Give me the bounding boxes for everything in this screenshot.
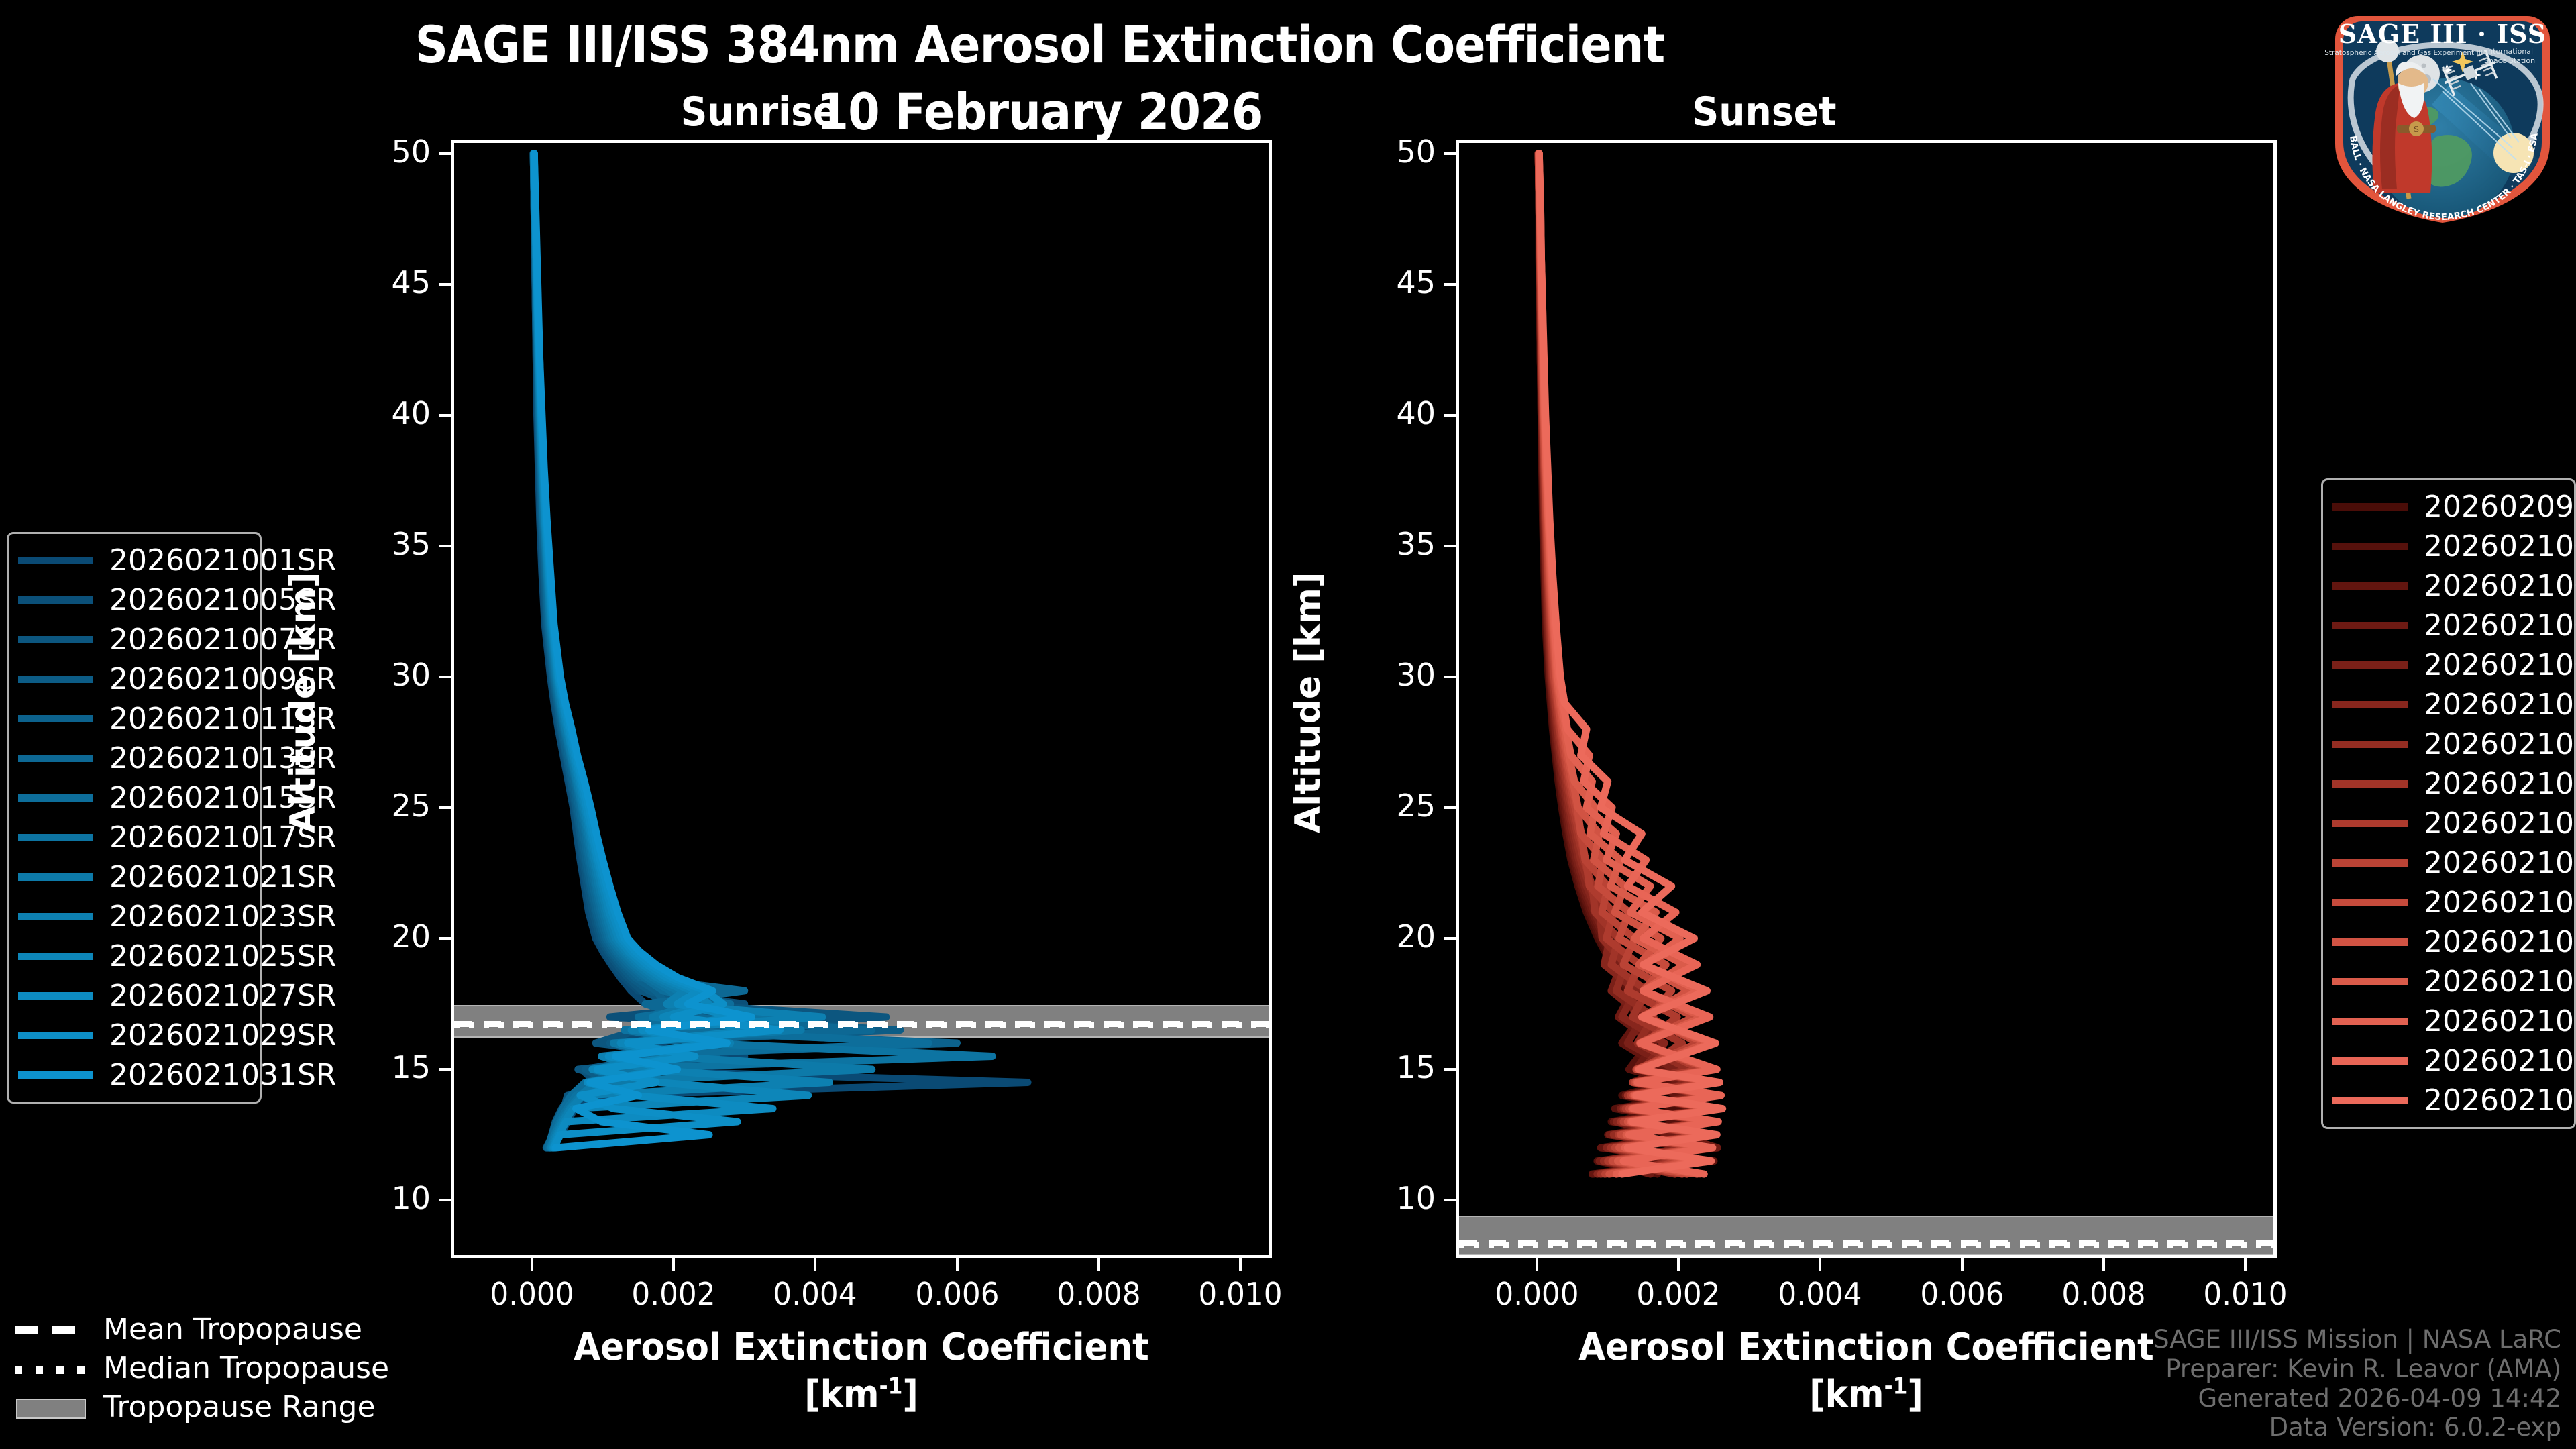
x-axis-tick-label: 0.010 xyxy=(1170,1276,1310,1312)
x-axis-tick xyxy=(2244,1258,2247,1271)
legend-event-label: 2026021001SR xyxy=(109,543,336,578)
legend-sunrise-item[interactable]: 2026021001SR xyxy=(18,541,250,580)
x-axis-tick xyxy=(672,1258,675,1271)
x-axis-tick-label: 0.008 xyxy=(1028,1276,1169,1312)
profile-line xyxy=(533,154,992,1148)
legend-event-label: 2026021013SR xyxy=(109,741,336,775)
legend-event-label: 2026021011SR xyxy=(109,702,336,736)
y-axis-tick xyxy=(439,545,451,547)
plot-area-sunset xyxy=(1459,143,2273,1255)
x-axis-tick xyxy=(1819,1258,1821,1271)
legend-event-label: 2026021029SR xyxy=(109,1018,336,1053)
y-axis-tick-label: 35 xyxy=(343,526,431,562)
x-axis-tick xyxy=(1239,1258,1242,1271)
legend-color-swatch xyxy=(2332,1057,2408,1065)
legend-sunset-item[interactable]: 2026021012SS xyxy=(2332,724,2565,764)
y-axis-tick-label: 20 xyxy=(1348,918,1436,955)
profile-line xyxy=(533,154,957,1148)
x-axis-tick-label: 0.006 xyxy=(887,1276,1027,1312)
legend-label-median: Median Tropopause xyxy=(103,1351,389,1385)
y-axis-tick-label: 20 xyxy=(343,918,431,955)
legend-sunset-item[interactable]: 2026021004SS xyxy=(2332,566,2565,606)
legend-color-swatch xyxy=(2332,543,2408,550)
legend-event-label: 2026021030SS xyxy=(2424,1083,2576,1118)
legend-sunrise-item[interactable]: 2026021017SR xyxy=(18,818,250,857)
legend-event-label: 2026021012SS xyxy=(2424,727,2576,761)
x-axis-tick xyxy=(814,1258,816,1271)
y-axis-tick-label: 45 xyxy=(343,264,431,301)
x-axis-tick xyxy=(2102,1258,2105,1271)
y-axis-tick xyxy=(439,937,451,940)
legend-sunset-item[interactable]: 2026021020SS xyxy=(2332,883,2565,922)
legend-event-label: 2026021007SR xyxy=(109,623,336,657)
legend-event-label: 2026021010SS xyxy=(2424,688,2576,722)
y-axis-tick xyxy=(439,283,451,286)
legend-event-label: 2026021016SS xyxy=(2424,806,2576,841)
legend-color-swatch xyxy=(2332,582,2408,590)
legend-label-mean: Mean Tropopause xyxy=(103,1312,362,1346)
y-axis-tick-label: 15 xyxy=(343,1049,431,1085)
credits-block: SAGE III/ISS Mission | NASA LaRC Prepare… xyxy=(2153,1325,2561,1442)
y-axis-tick xyxy=(1444,806,1456,809)
x-axis-label: Aerosol Extinction Coefficient xyxy=(372,1326,1350,1369)
median-tropopause-line xyxy=(454,1022,1269,1028)
legend-color-swatch xyxy=(18,755,93,762)
legend-color-swatch xyxy=(18,953,93,960)
credit-generated: Generated 2026-04-09 14:42 xyxy=(2153,1384,2561,1413)
y-axis-tick-label: 25 xyxy=(1348,788,1436,824)
credit-preparer: Preparer: Kevin R. Leavor (AMA) xyxy=(2153,1354,2561,1384)
sage-iii-iss-mission-patch-logo: S SAGE III · ISS Stratospheric Aerosol a… xyxy=(2318,4,2567,225)
legend-sunrise-item[interactable]: 2026021009SR xyxy=(18,659,250,699)
legend-sunset-item[interactable]: 2026021002SS xyxy=(2332,527,2565,566)
legend-sunrise-item[interactable]: 2026021029SR xyxy=(18,1016,250,1055)
legend-sunset-item[interactable]: 2026021022SS xyxy=(2332,922,2565,962)
legend-sunset-item[interactable]: 2026021008SS xyxy=(2332,645,2565,685)
dotted-line-icon xyxy=(15,1358,89,1378)
legend-color-swatch xyxy=(2332,859,2408,867)
legend-sunrise-item[interactable]: 2026021005SR xyxy=(18,580,250,620)
patch-subtitle-right-1: International xyxy=(2486,47,2533,56)
legend-event-label: 2026020925SS xyxy=(2424,490,2576,524)
x-axis-tick-label: 0.004 xyxy=(745,1276,885,1312)
legend-color-swatch xyxy=(18,636,93,643)
legend-sunset-item[interactable]: 2026021010SS xyxy=(2332,685,2565,724)
legend-sunrise-item[interactable]: 2026021027SR xyxy=(18,976,250,1016)
y-axis-tick xyxy=(1444,1199,1456,1201)
legend-color-swatch xyxy=(18,992,93,1000)
y-axis-tick xyxy=(439,1068,451,1071)
y-axis-tick xyxy=(439,676,451,678)
legend-event-label: 2026021017SR xyxy=(109,820,336,855)
panel-title-sunrise: Sunrise xyxy=(661,89,858,136)
legend-sunrise-item[interactable]: 2026021021SR xyxy=(18,857,250,897)
legend-sunset[interactable]: 2026020925SS2026021002SS2026021004SS2026… xyxy=(2321,478,2576,1129)
legend-event-label: 2026021027SR xyxy=(109,979,336,1013)
patch-subtitle-left: Stratospheric Aerosol and Gas Experiment… xyxy=(2324,49,2483,57)
profile-curves-sunrise xyxy=(454,143,1269,1255)
legend-color-swatch xyxy=(18,834,93,841)
y-axis-tick-label: 15 xyxy=(1348,1049,1436,1085)
legend-sunset-item[interactable]: 2026021014SS xyxy=(2332,764,2565,804)
x-axis-tick xyxy=(1536,1258,1538,1271)
x-axis-tick-label: 0.000 xyxy=(1467,1276,1607,1312)
x-axis-tick xyxy=(956,1258,959,1271)
legend-sunrise-item[interactable]: 2026021011SR xyxy=(18,699,250,739)
legend-sunset-item[interactable]: 2026021030SS xyxy=(2332,1081,2565,1120)
legend-event-label: 2026021031SR xyxy=(109,1058,336,1092)
x-axis-tick-label: 0.002 xyxy=(604,1276,744,1312)
legend-color-swatch xyxy=(18,913,93,920)
legend-color-swatch xyxy=(2332,701,2408,708)
y-axis-tick xyxy=(1444,545,1456,547)
legend-event-label: 2026021024SS xyxy=(2424,965,2576,999)
x-axis-tick xyxy=(1961,1258,1964,1271)
legend-event-label: 2026021025SR xyxy=(109,939,336,973)
legend-sunrise-item[interactable]: 2026021013SR xyxy=(18,739,250,778)
x-axis-tick xyxy=(1097,1258,1100,1271)
y-axis-tick xyxy=(439,1199,451,1201)
y-axis-tick xyxy=(1444,1068,1456,1071)
legend-sunset-item[interactable]: 2026021028SS xyxy=(2332,1041,2565,1081)
profile-curves-sunset xyxy=(1459,143,2273,1255)
y-axis-tick-label: 50 xyxy=(1348,133,1436,170)
y-axis-tick xyxy=(1444,283,1456,286)
y-axis-tick xyxy=(1444,937,1456,940)
x-axis-unit-label: [km-1] xyxy=(372,1373,1350,1416)
y-axis-tick-label: 10 xyxy=(343,1180,431,1216)
legend-label-range: Tropopause Range xyxy=(103,1390,376,1424)
legend-color-swatch xyxy=(18,715,93,722)
legend-event-label: 2026021008SS xyxy=(2424,648,2576,682)
legend-sunrise-item[interactable]: 2026021007SR xyxy=(18,620,250,659)
legend-color-swatch xyxy=(2332,899,2408,906)
figure-canvas: SAGE III/ISS 384nm Aerosol Extinction Co… xyxy=(0,0,2576,1449)
legend-sunrise[interactable]: 2026021001SR2026021005SR2026021007SR2026… xyxy=(7,532,262,1104)
x-axis-tick xyxy=(1677,1258,1680,1271)
plot-sunset xyxy=(1456,140,2277,1258)
legend-item-tropopause-range: Tropopause Range xyxy=(15,1387,364,1426)
legend-event-label: 2026021002SS xyxy=(2424,529,2576,563)
legend-color-swatch xyxy=(18,596,93,604)
legend-color-swatch xyxy=(2332,741,2408,748)
legend-sunrise-item[interactable]: 2026021023SR xyxy=(18,897,250,936)
legend-sunrise-item[interactable]: 2026021015SR xyxy=(18,778,250,818)
svg-text:S: S xyxy=(2414,125,2419,134)
legend-event-label: 2026021004SS xyxy=(2424,569,2576,603)
legend-event-label: 2026021014SS xyxy=(2424,767,2576,801)
legend-color-swatch xyxy=(18,794,93,802)
legend-color-swatch xyxy=(18,1032,93,1039)
y-axis-tick-label: 30 xyxy=(1348,657,1436,693)
legend-event-label: 2026021015SR xyxy=(109,781,336,815)
legend-event-label: 2026021023SR xyxy=(109,900,336,934)
legend-event-label: 2026021018SS xyxy=(2424,846,2576,880)
legend-color-swatch xyxy=(2332,780,2408,788)
y-axis-tick-label: 10 xyxy=(1348,1180,1436,1216)
page-title: SAGE III/ISS 384nm Aerosol Extinction Co… xyxy=(104,15,1976,74)
legend-event-label: 2026021020SS xyxy=(2424,885,2576,920)
y-axis-tick xyxy=(1444,152,1456,155)
legend-event-label: 2026021022SS xyxy=(2424,925,2576,959)
y-axis-tick-label: 40 xyxy=(343,395,431,431)
x-axis-tick-label: 0.004 xyxy=(1750,1276,1890,1312)
legend-event-label: 2026021021SR xyxy=(109,860,336,894)
legend-color-swatch xyxy=(2332,661,2408,669)
legend-event-label: 2026021026SS xyxy=(2424,1004,2576,1038)
legend-sunset-item[interactable]: 2026021006SS xyxy=(2332,606,2565,645)
legend-color-swatch xyxy=(18,873,93,881)
plot-area-sunrise xyxy=(454,143,1269,1255)
y-axis-tick xyxy=(1444,676,1456,678)
legend-sunset-item[interactable]: 2026021024SS xyxy=(2332,962,2565,1002)
legend-color-swatch xyxy=(2332,938,2408,946)
legend-color-swatch xyxy=(2332,820,2408,827)
y-axis-tick-label: 45 xyxy=(1348,264,1436,301)
legend-event-label: 2026021028SS xyxy=(2424,1044,2576,1078)
legend-sunset-item[interactable]: 2026021018SS xyxy=(2332,843,2565,883)
credit-data-version: Data Version: 6.0.2-exp xyxy=(2153,1413,2561,1442)
x-axis-tick-label: 0.006 xyxy=(1892,1276,2032,1312)
legend-tropopause[interactable]: Mean Tropopause Median Tropopause Tropop… xyxy=(15,1309,364,1426)
y-axis-tick xyxy=(1444,414,1456,417)
y-axis-tick xyxy=(439,152,451,155)
legend-item-mean-tropopause: Mean Tropopause xyxy=(15,1309,364,1348)
y-axis-tick-label: 50 xyxy=(343,133,431,170)
legend-event-label: 2026021009SR xyxy=(109,662,336,696)
legend-sunrise-item[interactable]: 2026021031SR xyxy=(18,1055,250,1095)
filled-band-icon xyxy=(15,1397,89,1417)
panel-title-sunset: Sunset xyxy=(1666,89,1863,136)
median-tropopause-line xyxy=(1459,1242,2273,1248)
y-axis-tick xyxy=(439,806,451,809)
legend-color-swatch xyxy=(2332,1097,2408,1104)
y-axis-tick xyxy=(439,414,451,417)
y-axis-tick-label: 40 xyxy=(1348,395,1436,431)
y-axis-tick-label: 25 xyxy=(343,788,431,824)
y-axis-label: Altitude [km] xyxy=(1288,572,1328,833)
plot-sunrise xyxy=(451,140,1272,1258)
patch-subtitle-right-2: Space Station xyxy=(2484,56,2535,65)
legend-event-label: 2026021005SR xyxy=(109,583,336,617)
dashed-line-icon xyxy=(15,1319,89,1339)
legend-sunset-item[interactable]: 2026021026SS xyxy=(2332,1002,2565,1041)
x-axis-tick-label: 0.002 xyxy=(1609,1276,1749,1312)
legend-color-swatch xyxy=(18,676,93,683)
legend-sunset-item[interactable]: 2026021016SS xyxy=(2332,804,2565,843)
x-axis-tick-label: 0.008 xyxy=(2033,1276,2173,1312)
x-axis-tick xyxy=(531,1258,533,1271)
legend-color-swatch xyxy=(18,1071,93,1079)
legend-color-swatch xyxy=(18,557,93,564)
legend-item-median-tropopause: Median Tropopause xyxy=(15,1348,364,1387)
legend-color-swatch xyxy=(2332,978,2408,985)
legend-color-swatch xyxy=(2332,503,2408,511)
patch-title: SAGE III · ISS xyxy=(2339,19,2546,49)
legend-event-label: 2026021006SS xyxy=(2424,608,2576,643)
x-axis-tick-label: 0.010 xyxy=(2175,1276,2315,1312)
legend-sunrise-item[interactable]: 2026021025SR xyxy=(18,936,250,976)
legend-sunset-item[interactable]: 2026020925SS xyxy=(2332,487,2565,527)
y-axis-tick-label: 35 xyxy=(1348,526,1436,562)
x-axis-tick-label: 0.000 xyxy=(462,1276,602,1312)
credit-mission: SAGE III/ISS Mission | NASA LaRC xyxy=(2153,1325,2561,1354)
profile-line xyxy=(533,154,1028,1148)
y-axis-tick-label: 30 xyxy=(343,657,431,693)
legend-color-swatch xyxy=(2332,1018,2408,1025)
legend-color-swatch xyxy=(2332,622,2408,629)
